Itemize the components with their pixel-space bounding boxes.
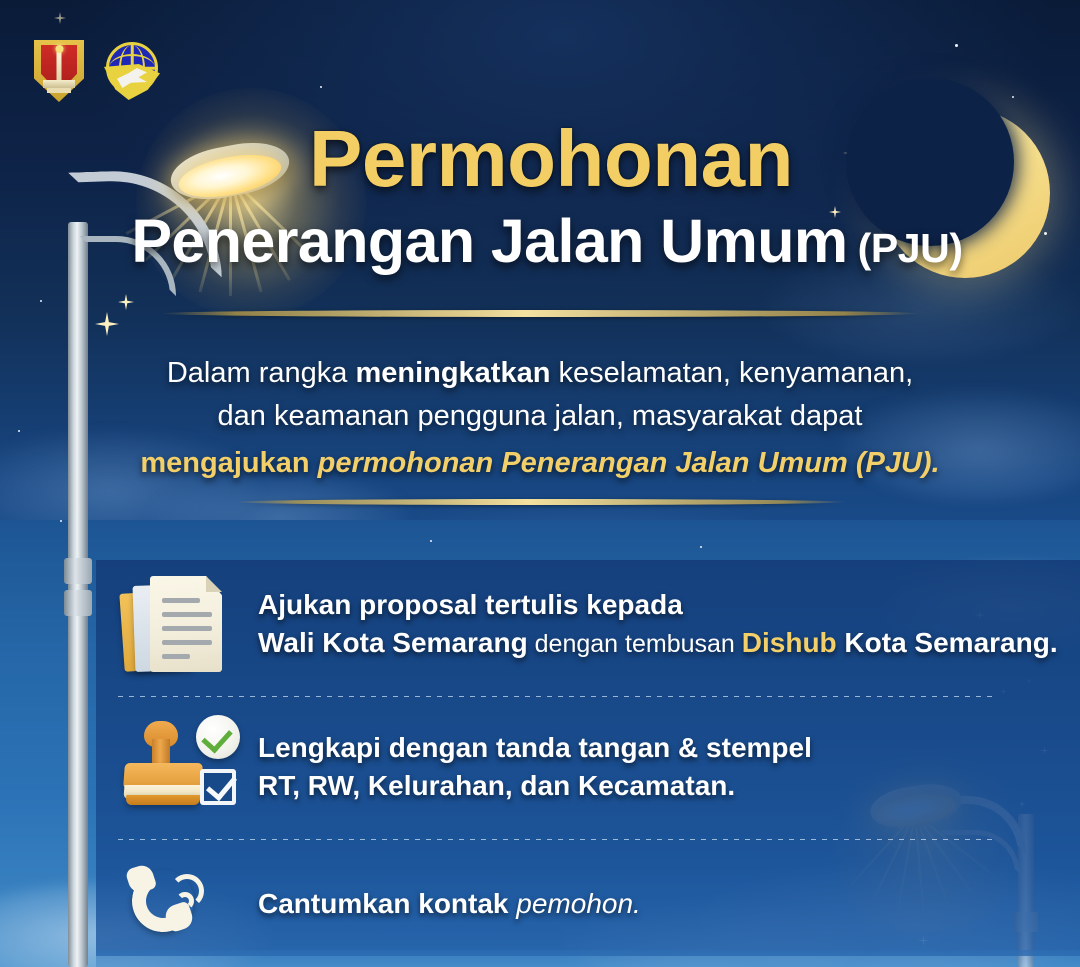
document-text-line [162, 640, 212, 645]
monument-base-lower [47, 88, 71, 93]
title-block: Permohonan Penerangan Jalan Umum (PJU) [0, 118, 1080, 276]
monument-base [43, 80, 75, 88]
document-fold-corner [206, 576, 222, 592]
logo-group [34, 40, 164, 102]
document-text-line [162, 598, 200, 603]
list-item: Ajukan proposal tertulis kepada Wali Kot… [118, 572, 998, 676]
star-decor [955, 44, 958, 47]
page-title-gold: Permohonan [0, 118, 1080, 200]
stamp-base [126, 795, 201, 805]
star-decor [320, 86, 322, 88]
document-text-line [162, 626, 212, 631]
check-circle-icon [196, 715, 240, 759]
list-item-text: Cantumkan kontak pemohon. [258, 885, 998, 923]
gold-divider-bottom [235, 499, 845, 505]
documents-icon [118, 572, 236, 676]
list-divider [118, 839, 998, 840]
list-item-line-2: Wali Kota Semarang dengan tembusan Dishu… [258, 624, 1058, 662]
intro-line-3: mengajukan permohonan Penerangan Jalan U… [120, 442, 960, 485]
stamp-check-icon [118, 715, 236, 819]
gold-divider-top [160, 310, 920, 317]
list-item-line-2: RT, RW, Kelurahan, dan Kecamatan. [258, 767, 998, 805]
list-item-text: Lengkapi dengan tanda tangan & stempel R… [258, 729, 998, 804]
page-subtitle-row: Penerangan Jalan Umum (PJU) [0, 206, 1080, 276]
semarang-city-emblem-icon [34, 40, 84, 102]
list-item: Lengkapi dengan tanda tangan & stempel R… [118, 715, 998, 819]
intro-gold-c: Penerangan Jalan Umum (PJU). [493, 447, 939, 479]
list-divider [118, 696, 998, 697]
page-title-abbreviation: (PJU) [858, 225, 963, 272]
phone-icon [118, 858, 236, 950]
contact-label: Cantumkan kontak [258, 888, 516, 919]
lamp-collar [64, 558, 92, 584]
list-item-line-1: Ajukan proposal tertulis kepada [258, 586, 1058, 624]
list-item-text: Ajukan proposal tertulis kepada Wali Kot… [258, 586, 1058, 661]
intro-gold-b: permohonan [318, 447, 494, 479]
applicant-label: pemohon. [516, 888, 641, 919]
intro-paragraph: Dalam rangka meningkatkan keselamatan, k… [120, 352, 960, 485]
list-item: Cantumkan kontak pemohon. [118, 858, 998, 950]
star-decor [18, 430, 20, 432]
dishub-highlight: Dishub [742, 627, 837, 658]
checkbox-icon [200, 769, 236, 805]
phone-signal-wave [170, 874, 204, 908]
requirements-list: Ajukan proposal tertulis kepada Wali Kot… [118, 572, 998, 950]
monument-icon [57, 52, 62, 82]
intro-text-a: Dalam rangka [167, 357, 356, 389]
document-text-line [162, 654, 190, 659]
intro-line-1: Dalam rangka meningkatkan keselamatan, k… [120, 352, 960, 395]
star-decor [430, 540, 432, 542]
cc-label: dengan tembusan [528, 630, 742, 658]
intro-line-2: dan keamanan pengguna jalan, masyarakat … [120, 395, 960, 438]
intro-text-bold: meningkatkan [355, 357, 550, 389]
star-decor [1012, 96, 1014, 98]
dishub-emblem-icon [100, 40, 164, 102]
list-item-line-1: Lengkapi dengan tanda tangan & stempel [258, 729, 998, 767]
page-title-white: Penerangan Jalan Umum [131, 206, 847, 276]
intro-text-c: keselamatan, kenyamanan, [550, 357, 913, 389]
document-text-line [162, 612, 212, 617]
lamp-collar [64, 590, 92, 616]
cc-city: Kota Semarang. [837, 627, 1058, 658]
star-decor [700, 546, 702, 548]
recipient-name: Wali Kota Semarang [258, 627, 528, 658]
list-item-line-1: Cantumkan kontak pemohon. [258, 885, 998, 923]
intro-gold-a: mengajukan [140, 447, 317, 479]
poster-canvas: Permohonan Penerangan Jalan Umum (PJU) D… [0, 0, 1080, 967]
